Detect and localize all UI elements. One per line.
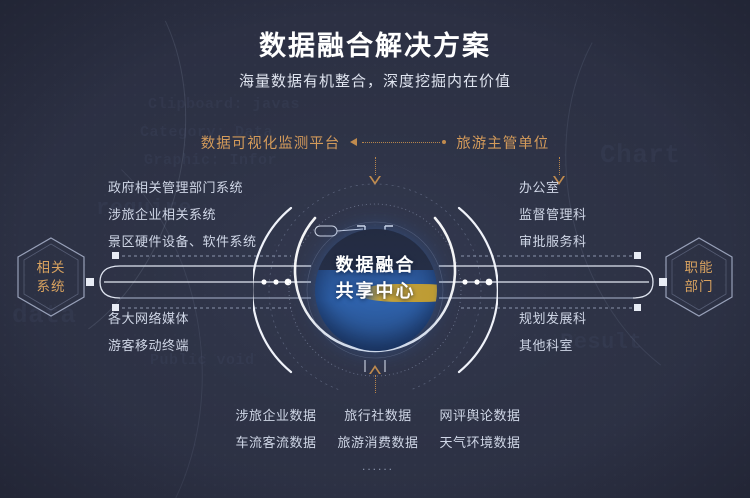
data-row: 涉旅企业数据 旅行社数据 网评舆论数据 [228,405,528,424]
list-item: 办公室 [519,174,587,201]
list-item: 各大网络媒体 [108,305,189,332]
data-cell: 涉旅企业数据 [228,405,324,424]
data-ellipsis: ...... [228,459,528,473]
list-item: 监督管理科 [519,201,587,228]
label-tourism-authority: 旅游主管单位 [456,132,549,153]
data-cell: 网评舆论数据 [432,405,528,424]
page-subtitle: 海量数据有机整合，深度挖掘内在价值 [0,70,750,91]
dotted-left-arrow-icon [350,136,446,148]
hexagon-right-label: 职能 部门 [685,258,714,296]
right-departments-list-top: 办公室 监督管理科 审批服务科 [519,174,587,255]
data-cell: 车流客流数据 [228,432,324,451]
list-item: 其他科室 [519,332,587,359]
orb-label: 数据融合 共享中心 [253,252,498,304]
infographic-canvas: Clipboard: javas Category: Data Graphic:… [0,0,750,498]
hexagon-left-label: 相关 系统 [37,258,66,296]
label-visualization-platform: 数据可视化监测平台 [201,132,341,153]
central-orb: 数据融合 共享中心 [253,160,498,390]
list-item: 涉旅企业相关系统 [108,201,257,228]
left-systems-list-top: 政府相关管理部门系统 涉旅企业相关系统 景区硬件设备、软件系统 [108,174,257,255]
list-item: 规划发展科 [519,305,587,332]
bottom-data-grid: 涉旅企业数据 旅行社数据 网评舆论数据 车流客流数据 旅游消费数据 天气环境数据… [228,405,528,473]
hexagon-functional-departments: 职能 部门 [662,235,736,319]
left-systems-list-bottom: 各大网络媒体 游客移动终端 [108,305,189,359]
list-item: 审批服务科 [519,228,587,255]
top-accent-row: 数据可视化监测平台 旅游主管单位 [0,131,750,153]
data-cell: 旅游消费数据 [330,432,426,451]
data-cell: 天气环境数据 [432,432,528,451]
data-row: 车流客流数据 旅游消费数据 天气环境数据 [228,432,528,451]
list-item: 游客移动终端 [108,332,189,359]
list-item: 政府相关管理部门系统 [108,174,257,201]
hexagon-related-systems: 相关 系统 [14,235,88,319]
list-item: 景区硬件设备、软件系统 [108,228,257,255]
data-cell: 旅行社数据 [330,405,426,424]
right-departments-list-bottom: 规划发展科 其他科室 [519,305,587,359]
page-title: 数据融合解决方案 [0,24,750,63]
